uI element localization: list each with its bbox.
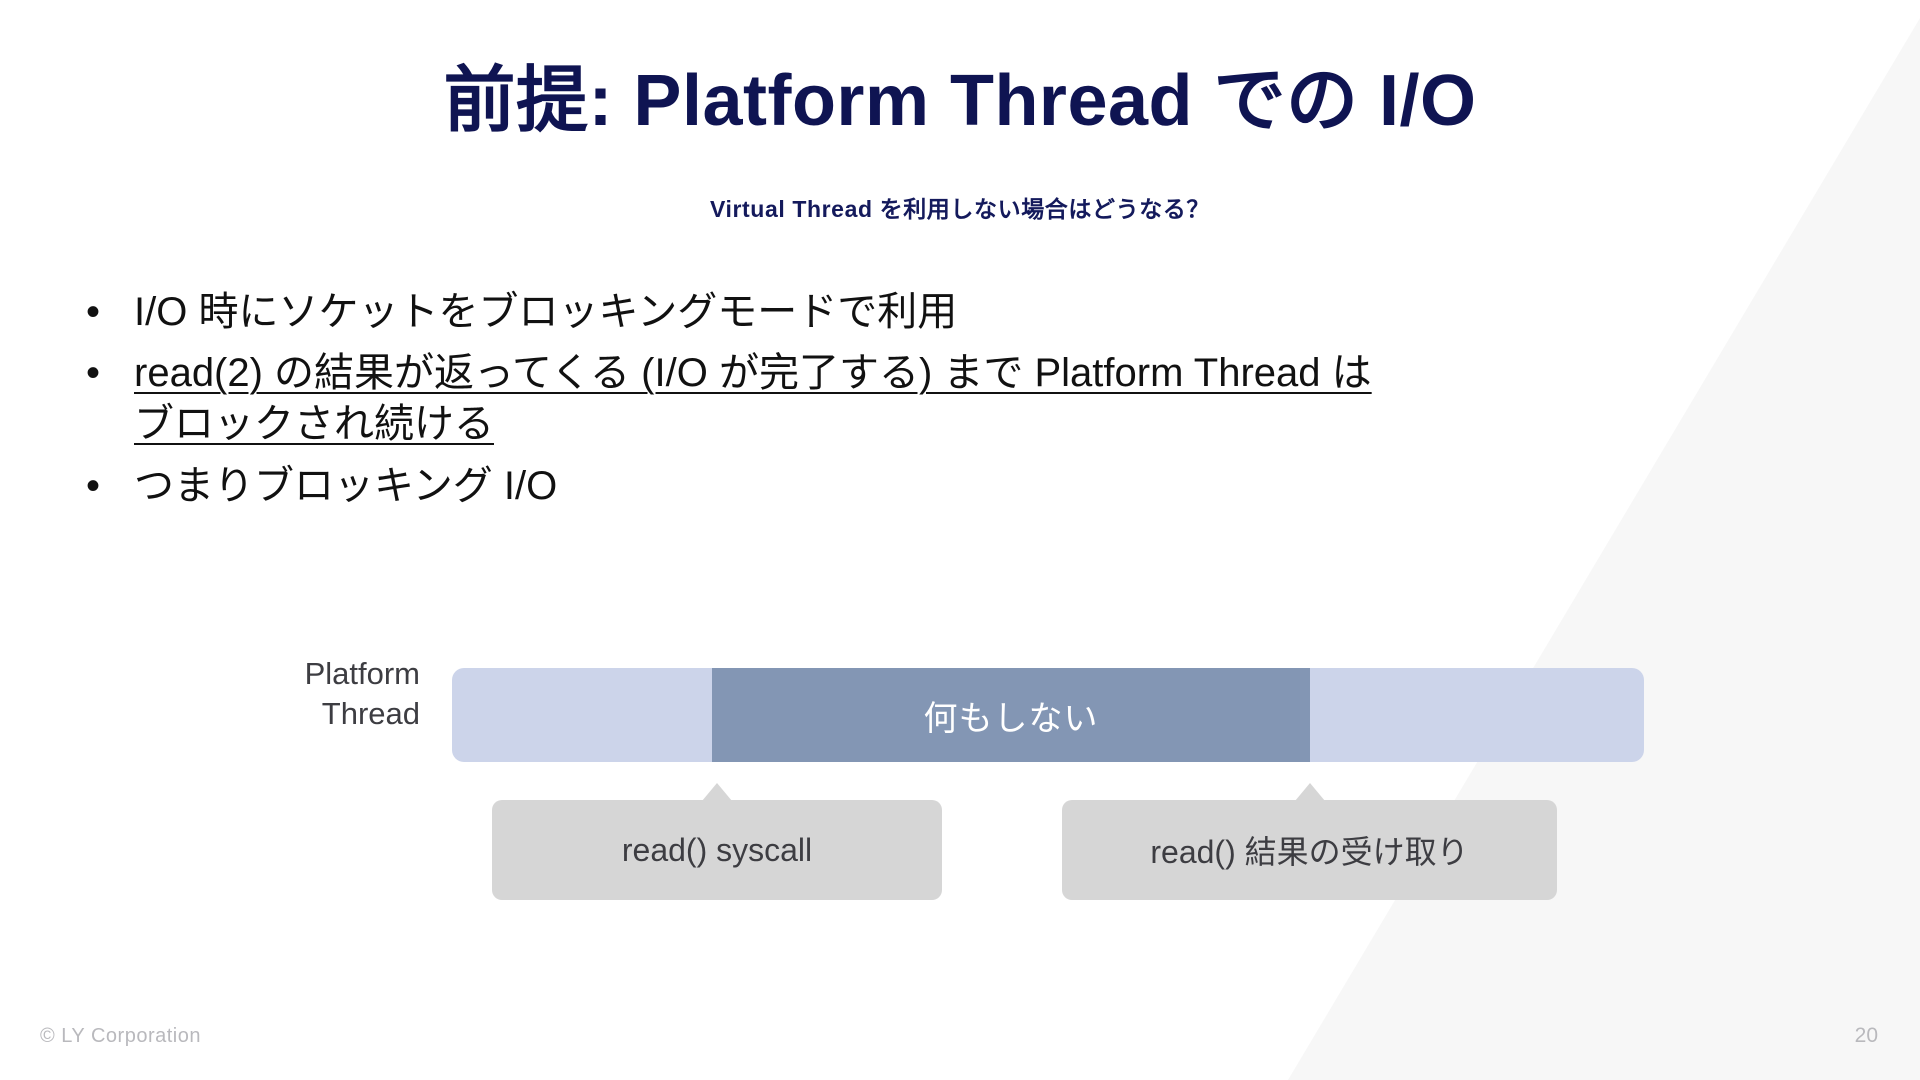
bullet-line-1: read(2) の結果が返ってくる (I/O が完了する) まで Platfor… bbox=[134, 351, 1372, 395]
bullet-line-1: つまりブロッキング I/O bbox=[134, 464, 557, 508]
thread-track-label: Platform Thread bbox=[200, 654, 420, 733]
list-item: • I/O 時にソケットをブロッキングモードで利用 bbox=[86, 287, 1786, 338]
page-title: 前提: Platform Thread での I/O bbox=[0, 62, 1920, 141]
callout-read-syscall-label: read() syscall bbox=[622, 832, 812, 869]
bullet-marker-icon: • bbox=[86, 287, 134, 338]
list-item: • read(2) の結果が返ってくる (I/O が完了する) まで Platf… bbox=[86, 348, 1786, 450]
callout-pointer-icon bbox=[1295, 783, 1325, 801]
page-subtitle: Virtual Thread を利用しない場合はどうなる？ bbox=[0, 190, 1920, 224]
thread-timeline-diagram: Platform Thread 何もしない read() syscall rea… bbox=[0, 640, 1920, 940]
bullet-text: つまりブロッキング I/O bbox=[134, 461, 1786, 512]
bullet-text: I/O 時にソケットをブロッキングモードで利用 bbox=[134, 287, 1786, 338]
footer-copyright: © LY Corporation bbox=[40, 1025, 201, 1048]
bullet-text-emphasized: read(2) の結果が返ってくる (I/O が完了する) まで Platfor… bbox=[134, 348, 1786, 450]
thread-timeline-bar: 何もしない bbox=[452, 668, 1644, 762]
bullet-list: • I/O 時にソケットをブロッキングモードで利用 • read(2) の結果が… bbox=[86, 287, 1786, 522]
bullet-line-1: I/O 時にソケットをブロッキングモードで利用 bbox=[134, 290, 957, 334]
callout-pointer-icon bbox=[702, 783, 732, 801]
callout-read-syscall: read() syscall bbox=[492, 800, 942, 900]
slide-canvas: 前提: Platform Thread での I/O Virtual Threa… bbox=[0, 0, 1920, 1080]
bullet-line-2: ブロックされ続ける bbox=[134, 399, 1786, 450]
timeline-segment-blocked: 何もしない bbox=[712, 668, 1310, 762]
page-number: 20 bbox=[1855, 1024, 1878, 1048]
callout-read-result-label: read() 結果の受け取り bbox=[1150, 827, 1468, 873]
thread-track-label-line-1: Platform bbox=[200, 654, 420, 694]
bullet-marker-icon: • bbox=[86, 348, 134, 399]
timeline-segment-blocked-label: 何もしない bbox=[924, 691, 1099, 740]
bullet-marker-icon: • bbox=[86, 461, 134, 512]
list-item: • つまりブロッキング I/O bbox=[86, 461, 1786, 512]
callout-read-result: read() 結果の受け取り bbox=[1062, 800, 1557, 900]
thread-track-label-line-2: Thread bbox=[200, 694, 420, 734]
